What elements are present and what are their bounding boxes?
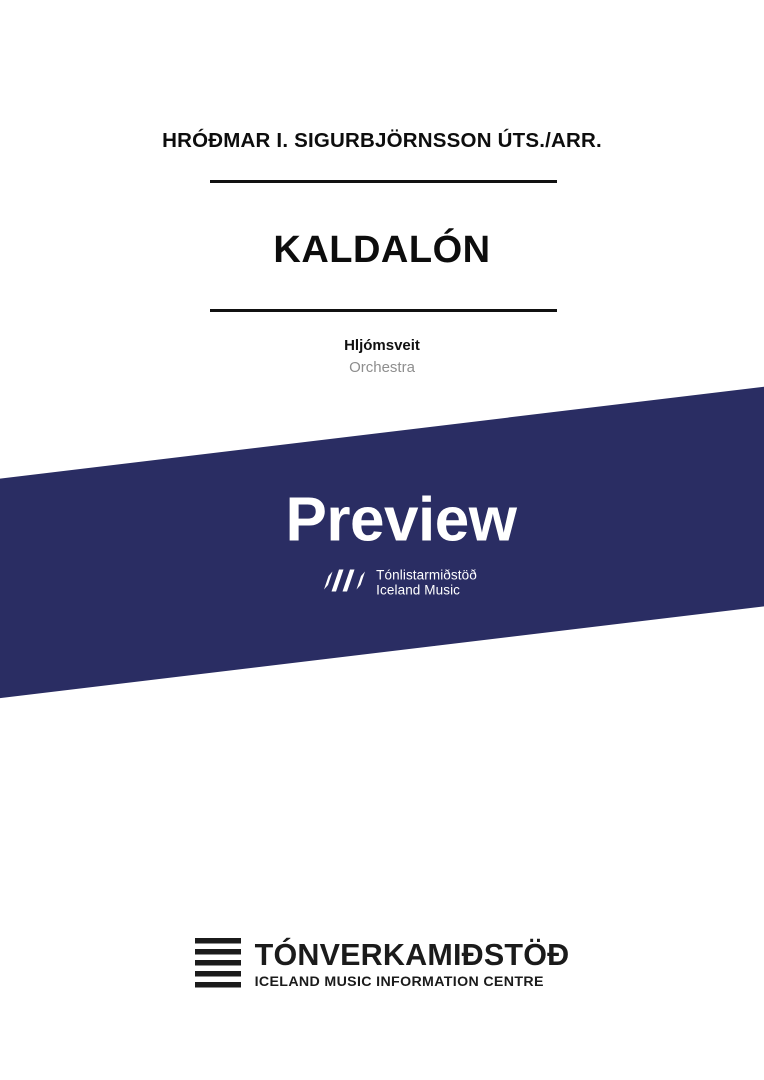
iceland-music-logo-line2: Iceland Music [376,583,477,598]
ensemble-label-english: Orchestra [0,358,764,378]
iceland-music-logo-wordmark: Tónlistarmiðstöð Iceland Music [376,567,477,597]
page-title: KALDALÓN [0,228,764,274]
composer-credit: HRÓÐMAR I. SIGURBJÖRNSSON ÚTS./ARR. [0,129,764,154]
score-cover-page: HRÓÐMAR I. SIGURBJÖRNSSON ÚTS./ARR. KALD… [0,0,764,1080]
footer-logo-line2: ICELAND MUSIC INFORMATION CENTRE [255,975,570,990]
ensemble-label-icelandic: Hljómsveit [0,336,764,356]
preview-watermark-label: Preview [286,489,517,551]
footer-wordmark: TÓNVERKAMIÐSTÖÐ ICELAND MUSIC INFORMATIO… [255,939,570,989]
footer-logo: TÓNVERKAMIÐSTÖÐ ICELAND MUSIC INFORMATIO… [0,936,764,993]
iceland-music-logo: Tónlistarmiðstöð Iceland Music [323,567,477,598]
iceland-music-chevrons-icon [323,567,367,598]
iceland-music-logo-line1: Tónlistarmiðstöð [376,567,477,582]
preview-banner-content: Preview Tónlistarmiðstöð Iceland Music [0,432,764,650]
title-rule-bottom [210,309,557,312]
title-rule-top [210,180,557,183]
staff-lines-icon [195,936,241,993]
footer-logo-line1: TÓNVERKAMIÐSTÖÐ [255,939,570,971]
